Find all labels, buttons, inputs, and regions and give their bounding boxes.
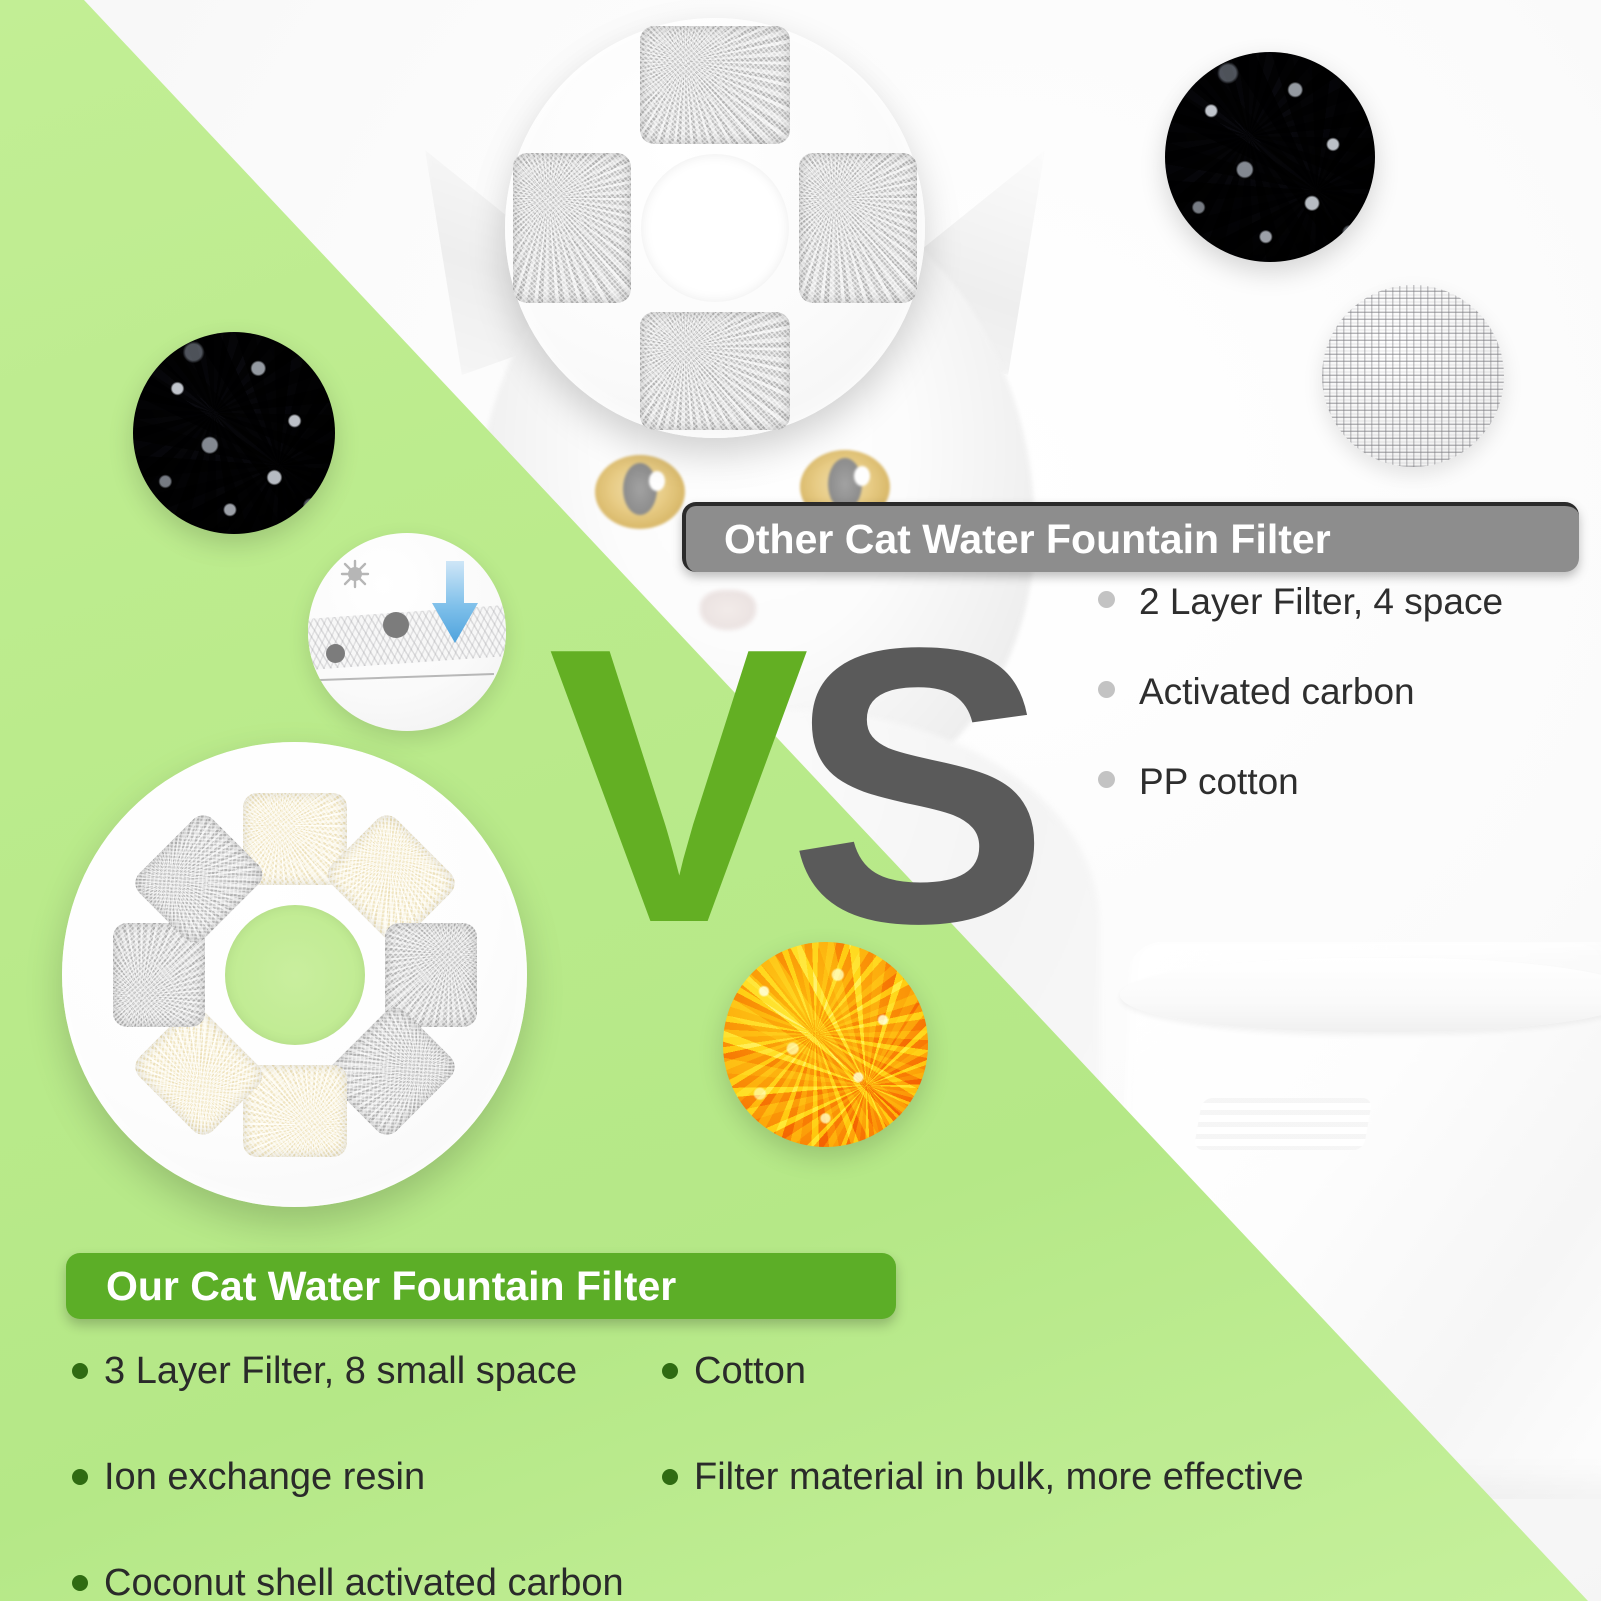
bullet-dot-icon [1098, 681, 1115, 698]
list-item-label: Cotton [694, 1348, 806, 1394]
water-flow-arrow-icon [428, 561, 482, 645]
our-filter-disc [62, 742, 527, 1207]
list-item-label: Activated carbon [1139, 670, 1415, 714]
coconut-carbon-swatch [133, 332, 335, 534]
list-item-label: Coconut shell activated carbon [104, 1560, 624, 1601]
cat-eye-glint-left [649, 471, 665, 491]
vs-letter-v: V [548, 596, 791, 976]
bullet-dot-icon [1098, 771, 1115, 788]
list-item: Filter material in bulk, more effective [662, 1454, 1562, 1500]
list-item-label: Filter material in bulk, more effective [694, 1454, 1304, 1500]
infographic-canvas: V S Other Cat Water Fountain Filter 2 La… [0, 0, 1601, 1601]
activated-carbon-swatch [1165, 52, 1375, 262]
list-item: Ion exchange resin [72, 1454, 662, 1500]
list-item-label: 3 Layer Filter, 8 small space [104, 1348, 577, 1394]
cat-eye-glint-right [854, 466, 870, 486]
pp-cotton-mesh-swatch [1322, 285, 1504, 467]
bullet-dot-icon [662, 1363, 678, 1379]
other-disc-segment [799, 153, 917, 303]
other-filter-feature-list: 2 Layer Filter, 4 space Activated carbon… [1098, 580, 1568, 850]
other-filter-banner-label: Other Cat Water Fountain Filter [724, 516, 1331, 563]
list-item-label: PP cotton [1139, 760, 1299, 804]
germ-icon [340, 559, 370, 589]
our-disc-center-hole [225, 905, 365, 1045]
particle-dot [326, 644, 345, 663]
list-item-label: Ion exchange resin [104, 1454, 425, 1500]
our-filter-feature-list: 3 Layer Filter, 8 small space Cotton Ion… [72, 1348, 1552, 1601]
other-disc-segment [640, 312, 790, 430]
bullet-dot-icon [72, 1469, 88, 1485]
list-item-label: 2 Layer Filter, 4 space [1139, 580, 1503, 624]
list-item: PP cotton [1098, 760, 1568, 804]
filter-base-line [320, 673, 494, 681]
other-disc-segment [513, 153, 631, 303]
bullet-dot-icon [662, 1469, 678, 1485]
vs-letter-s: S [788, 596, 1031, 976]
list-item: Coconut shell activated carbon [72, 1560, 662, 1601]
list-item: 2 Layer Filter, 4 space [1098, 580, 1568, 624]
our-filter-banner: Our Cat Water Fountain Filter [66, 1253, 896, 1319]
list-item: 3 Layer Filter, 8 small space [72, 1348, 662, 1394]
fountain-vent-slots [1193, 1098, 1372, 1150]
bullet-dot-icon [1098, 591, 1115, 608]
bullet-dot-icon [72, 1575, 88, 1591]
filtration-layers-swatch [308, 533, 506, 731]
other-filter-banner: Other Cat Water Fountain Filter [682, 502, 1579, 572]
other-disc-segment [640, 26, 790, 144]
other-disc-center-hole [641, 154, 789, 302]
versus-graphic: V S [548, 596, 1108, 996]
cat-eye-left [595, 455, 685, 529]
bullet-dot-icon [72, 1363, 88, 1379]
our-filter-banner-label: Our Cat Water Fountain Filter [106, 1263, 676, 1310]
other-filter-disc [505, 18, 925, 438]
list-item: Activated carbon [1098, 670, 1568, 714]
fountain-bowl-rim [1120, 958, 1601, 1032]
list-item: Cotton [662, 1348, 1562, 1394]
